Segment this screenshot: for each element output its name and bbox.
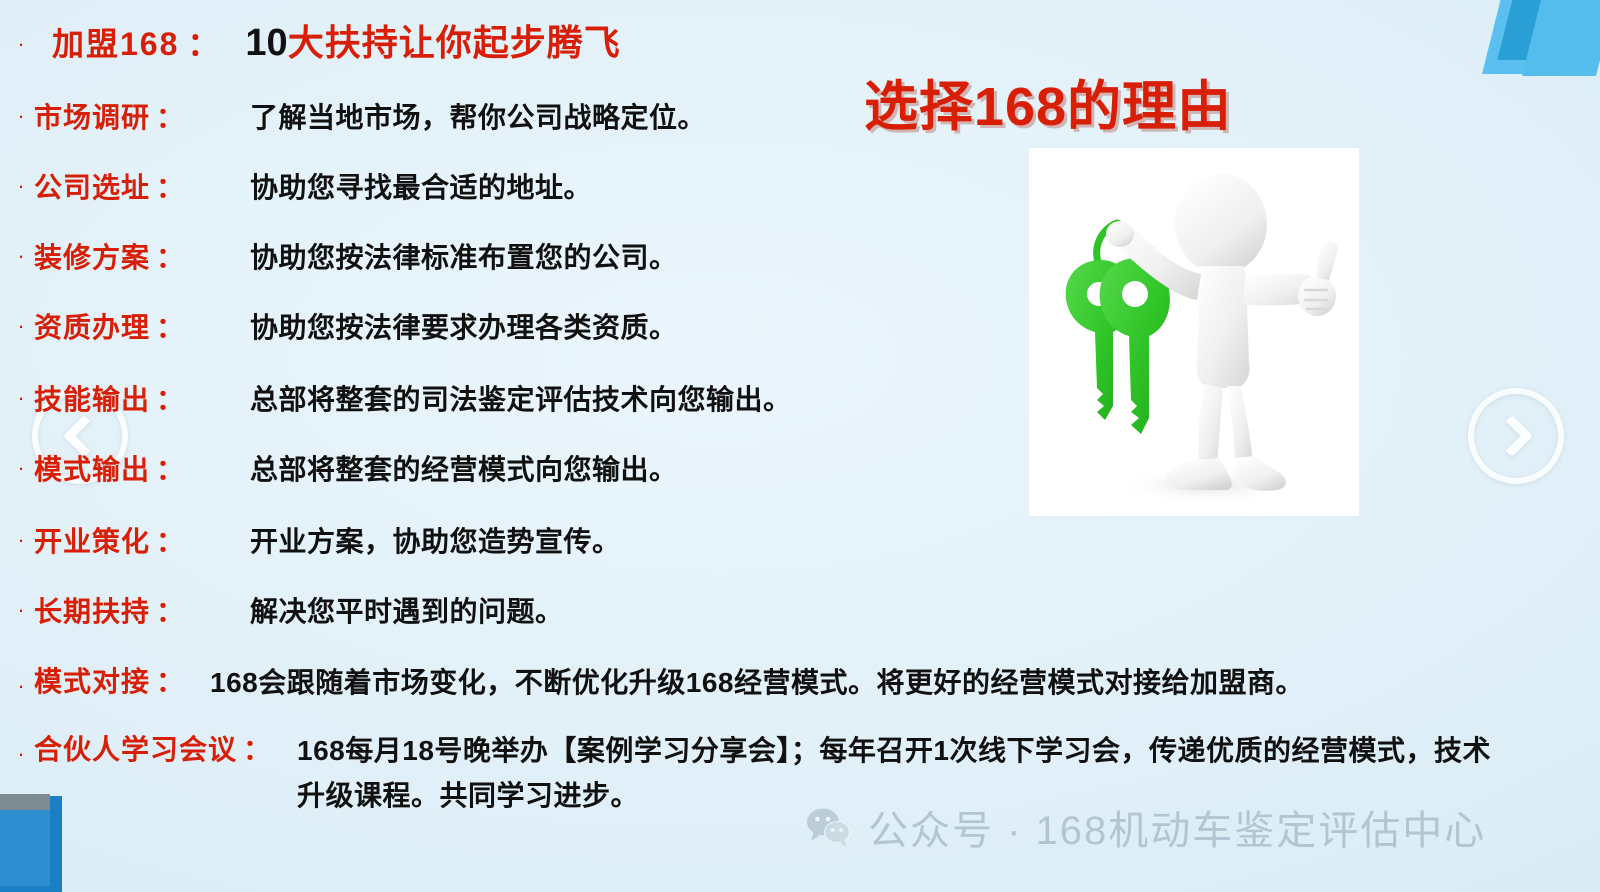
header-colon: ： <box>179 19 219 65</box>
bullet-icon: · <box>8 175 34 197</box>
item-label: 模式对接 <box>34 660 150 700</box>
list-item: · 装修方案 ： 协助您按法律标准布置您的公司。 <box>8 236 678 276</box>
item-colon: ： <box>150 660 184 700</box>
decoration-parallelogram-dark <box>1497 0 1578 60</box>
item-description: 总部将整套的经营模式向您输出。 <box>208 448 678 488</box>
list-item: · 合伙人学习会议 ： 168每月18号晚举办【案例学习分享会】；每年召开1次线… <box>8 728 1518 819</box>
item-colon: ： <box>237 728 271 768</box>
item-label: 市场调研 <box>34 96 150 136</box>
label-column: · 长期扶持 ： <box>8 590 208 630</box>
page-title: 选择168的理由 <box>788 62 1308 141</box>
item-description: 协助您按法律标准布置您的公司。 <box>208 236 678 276</box>
item-colon: ： <box>150 448 184 488</box>
label-column: · 公司选址 ： <box>8 166 208 206</box>
list-item: · 模式对接 ： 168会跟随着市场变化，不断优化升级168经营模式。将更好的经… <box>8 660 1568 705</box>
list-item: · 公司选址 ： 协助您寻找最合适的地址。 <box>8 166 592 206</box>
list-item: · 模式输出 ： 总部将整套的经营模式向您输出。 <box>8 448 678 488</box>
item-label: 模式输出 <box>34 448 150 488</box>
item-description: 协助您寻找最合适的地址。 <box>208 166 592 206</box>
list-item-header: · 加盟168 ： 10 大扶持让你起步腾飞 <box>8 14 621 66</box>
item-description: 开业方案，协助您造势宣传。 <box>208 520 621 560</box>
hero-image-card <box>1029 148 1359 516</box>
label-column: · 模式对接 ： <box>8 660 184 700</box>
item-colon: ： <box>150 96 184 136</box>
list-item: · 开业策化 ： 开业方案，协助您造势宣传。 <box>8 520 621 560</box>
bullet-icon: · <box>8 245 34 267</box>
next-slide-button[interactable] <box>1468 388 1564 484</box>
bullet-icon: · <box>8 387 34 409</box>
item-colon: ： <box>150 378 184 418</box>
slide-canvas: 选择168的理由 <box>0 0 1600 892</box>
list-item: · 技能输出 ： 总部将整套的司法鉴定评估技术向您输出。 <box>8 378 792 418</box>
bullet-icon: · <box>8 599 34 621</box>
bullet-icon: · <box>8 675 34 697</box>
bullet-icon: · <box>8 743 34 765</box>
label-column: · 开业策化 ： <box>8 520 208 560</box>
header-label: 加盟168 <box>34 19 179 65</box>
chevron-right-icon <box>1491 415 1533 457</box>
header-rest: 大扶持让你起步腾飞 <box>288 14 621 66</box>
list-item: · 资质办理 ： 协助您按法律要求办理各类资质。 <box>8 306 678 346</box>
3d-figure-keys-icon <box>1029 148 1359 516</box>
decoration-parallelogram-light <box>1482 0 1576 74</box>
item-colon: ： <box>150 306 184 346</box>
item-label: 技能输出 <box>34 378 150 418</box>
item-label: 公司选址 <box>34 166 150 206</box>
bullet-icon: · <box>8 315 34 337</box>
label-column: · 装修方案 ： <box>8 236 208 276</box>
label-column: · 模式输出 ： <box>8 448 208 488</box>
list-item: · 市场调研 ： 了解当地市场，帮你公司战略定位。 <box>8 96 706 136</box>
item-label: 资质办理 <box>34 306 150 346</box>
item-label: 长期扶持 <box>34 590 150 630</box>
bullet-icon: · <box>8 529 34 551</box>
item-colon: ： <box>150 166 184 206</box>
decoration-parallelogram-mid <box>1522 0 1600 76</box>
item-description: 解决您平时遇到的问题。 <box>208 590 564 630</box>
header-number: 10 <box>219 22 287 65</box>
label-column: · 资质办理 ： <box>8 306 208 346</box>
item-colon: ： <box>150 236 184 276</box>
item-description: 168每月18号晚举办【案例学习分享会】；每年召开1次线下学习会，传递优质的经营… <box>271 728 1518 819</box>
bullet-icon: · <box>8 33 34 55</box>
bullet-icon: · <box>8 105 34 127</box>
list-item: · 长期扶持 ： 解决您平时遇到的问题。 <box>8 590 564 630</box>
item-description: 了解当地市场，帮你公司战略定位。 <box>208 96 706 136</box>
item-description: 协助您按法律要求办理各类资质。 <box>208 306 678 346</box>
label-column: · 合伙人学习会议 ： <box>8 728 271 768</box>
label-column: · 技能输出 ： <box>8 378 208 418</box>
item-label: 装修方案 <box>34 236 150 276</box>
top-right-decoration <box>1460 0 1600 90</box>
item-label: 合伙人学习会议 <box>34 728 237 768</box>
item-description: 168会跟随着市场变化，不断优化升级168经营模式。将更好的经营模式对接给加盟商… <box>184 660 1304 705</box>
bullet-icon: · <box>8 457 34 479</box>
item-description: 总部将整套的司法鉴定评估技术向您输出。 <box>208 378 792 418</box>
item-colon: ： <box>150 590 184 630</box>
item-colon: ： <box>150 520 184 560</box>
item-label: 开业策化 <box>34 520 150 560</box>
label-column: · 市场调研 ： <box>8 96 208 136</box>
